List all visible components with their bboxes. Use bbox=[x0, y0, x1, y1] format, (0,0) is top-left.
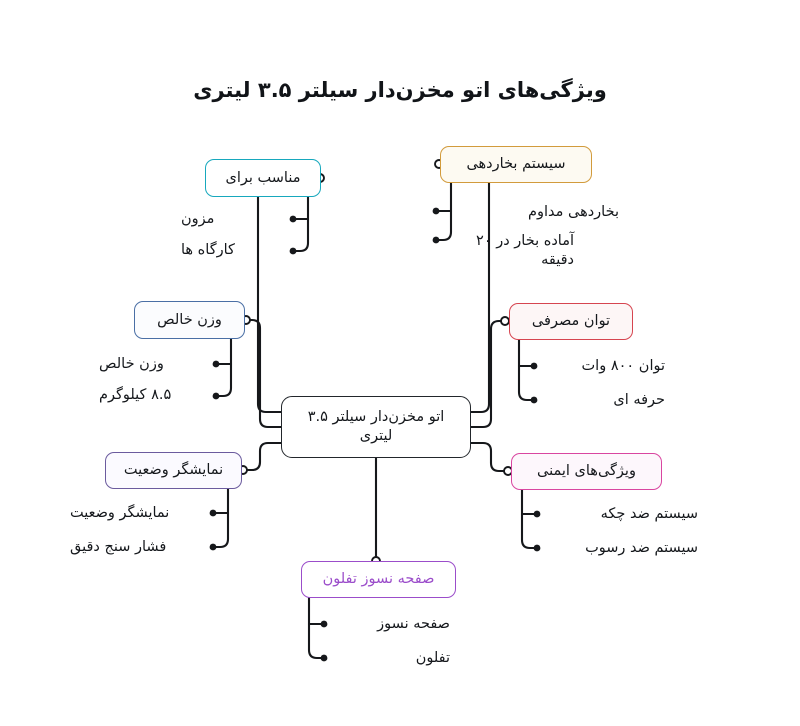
wire-center-to-steam-system-b bbox=[437, 164, 489, 412]
branch-node-status-display[interactable]: نمایشگر وضعیت bbox=[105, 452, 242, 489]
dot-weight-leaf-1 bbox=[213, 361, 220, 368]
leaf-steam-system-1: بخاردهی مداوم bbox=[444, 203, 619, 222]
leaf-power-consumption-1: توان ۸۰۰ وات bbox=[540, 357, 665, 376]
leaf-power-consumption-2: حرفه ای bbox=[540, 391, 665, 410]
dot-status-leaf-1 bbox=[210, 510, 217, 517]
leaf-teflon-soleplate-1: صفحه نسوز bbox=[330, 615, 450, 634]
mindmap-canvas: ویژگی‌های اتو مخزن‌دار سیلتر ۳.۵ لیتری ا… bbox=[0, 0, 800, 726]
leaf-suitable-for-2: کارگاه ها bbox=[181, 241, 286, 260]
leaf-teflon-soleplate-2: تفلون bbox=[330, 649, 450, 668]
wire-weight-leaf-spine bbox=[216, 339, 231, 396]
dot-safety-leaf-2 bbox=[534, 545, 541, 552]
wire-center-to-safety-features bbox=[470, 443, 508, 471]
wire-teflon-leaf-spine bbox=[309, 598, 324, 658]
dot-power-leaf-1 bbox=[531, 363, 538, 370]
leaf-net-weight-1: وزن خالص bbox=[99, 355, 209, 374]
leaf-suitable-for-1: مزون bbox=[181, 210, 286, 229]
wire-safety-leaf-spine bbox=[522, 489, 537, 548]
wire-power-leaf-spine bbox=[519, 340, 534, 400]
branch-node-suitable-for[interactable]: مناسب برای bbox=[205, 159, 321, 197]
wire-center-to-status-display bbox=[243, 443, 281, 470]
leaf-status-display-1: نمایشگر وضعیت bbox=[70, 504, 207, 523]
branch-node-teflon-soleplate[interactable]: صفحه نسوز تفلون bbox=[301, 561, 456, 598]
dot-status-leaf-2 bbox=[210, 544, 217, 551]
wire-status-leaf-spine bbox=[213, 488, 228, 547]
dot-teflon-leaf-1 bbox=[321, 621, 328, 628]
central-node[interactable]: اتو مخزن‌دار سیلتر ۳.۵ لیتری bbox=[281, 396, 471, 458]
dot-safety-leaf-1 bbox=[534, 511, 541, 518]
wire-center-to-net-weight bbox=[246, 320, 281, 427]
leaf-steam-system-2: آماده بخار در ۲۰ دقیقه bbox=[444, 232, 574, 270]
leaf-net-weight-2: ۸.۵ کیلوگرم bbox=[99, 386, 209, 405]
branch-node-net-weight[interactable]: وزن خالص bbox=[134, 301, 245, 339]
page-title: ویژگی‌های اتو مخزن‌دار سیلتر ۳.۵ لیتری bbox=[0, 78, 800, 102]
dot-suitable-leaf-1 bbox=[290, 216, 297, 223]
branch-node-steam-system[interactable]: سیستم بخاردهی bbox=[440, 146, 592, 183]
dot-power-leaf-2 bbox=[531, 397, 538, 404]
leaf-safety-features-1: سیستم ضد چکه bbox=[543, 505, 698, 524]
wire-center-to-power-consumption bbox=[470, 321, 505, 427]
leaf-status-display-2: فشار سنج دقیق bbox=[70, 538, 207, 557]
dot-steam-leaf-2 bbox=[433, 237, 440, 244]
branch-node-safety-features[interactable]: ویژگی‌های ایمنی bbox=[511, 453, 662, 490]
dot-weight-leaf-2 bbox=[213, 393, 220, 400]
dot-suitable-leaf-2 bbox=[290, 248, 297, 255]
port-power-consumption bbox=[501, 317, 509, 325]
branch-node-power-consumption[interactable]: توان مصرفی bbox=[509, 303, 633, 340]
leaf-safety-features-2: سیستم ضد رسوب bbox=[543, 539, 698, 558]
wire-suitable-leaf-spine bbox=[293, 196, 308, 251]
dot-teflon-leaf-2 bbox=[321, 655, 328, 662]
dot-steam-leaf-1 bbox=[433, 208, 440, 215]
